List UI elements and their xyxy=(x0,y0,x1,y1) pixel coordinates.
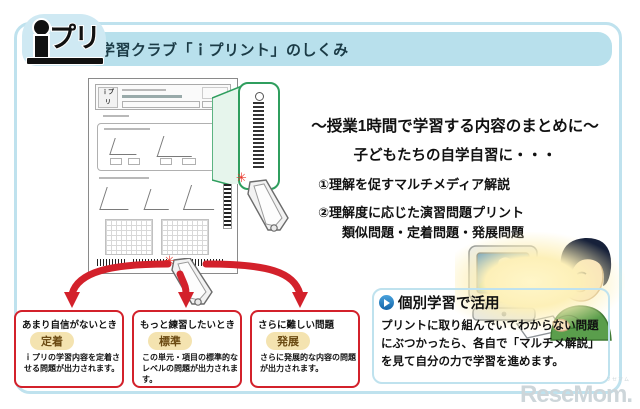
info-panel-body: プリントに取り組んでいてわからない問題にぶつかったら、各自で「マルチメ解説」を見… xyxy=(381,317,607,371)
outcome-card-teichaku[interactable]: あまり自信がないとき 定着 ｉプリの学習内容を定着させる問題が出力されます。 xyxy=(14,310,124,388)
card-body: この単元・項目の標準的なレベルの問題が出力されます。 xyxy=(142,352,238,385)
play-circle-icon xyxy=(379,295,394,310)
ipuri-logo: プリ xyxy=(22,14,106,68)
worksheet-figure-a xyxy=(99,187,135,210)
barcode-scanner-pen-upper xyxy=(244,178,302,245)
info-panel-heading: 個別学習で活用 xyxy=(398,292,500,313)
zoom-marker-icon xyxy=(255,92,264,101)
infographic-root: 学習クラブ「ｉプリント」のしくみ プリ ｉプリ xyxy=(0,0,640,409)
branch-arrows xyxy=(20,258,340,314)
headline-point-2: ②理解度に応じた演習問題プリント xyxy=(318,202,524,221)
outcome-card-hyojun[interactable]: もっと練習したいとき 標準 この単元・項目の標準的なレベルの問題が出力されます。 xyxy=(132,310,242,388)
headline-point-1: ①理解を促すマルチメディア解説 xyxy=(318,174,510,193)
outcome-card-hatten[interactable]: さらに難しい問題 発展 さらに発展的な内容の問題が出力されます。 xyxy=(250,310,360,388)
logo-kana-text: プリ xyxy=(49,22,99,54)
card-title: さらに難しい問題 xyxy=(258,317,334,331)
watermark-main: ReseMom. xyxy=(520,383,632,407)
card-body: ｉプリの学習内容を定着させる問題が出力されます。 xyxy=(24,352,120,374)
worksheet-title-line xyxy=(122,89,166,91)
card-body: さらに発展的な内容の問題が出力されます。 xyxy=(260,352,356,374)
worksheet-logo-icon: ｉプリ xyxy=(98,87,118,108)
worksheet-subtitle-line xyxy=(122,95,182,98)
headline-sub: 子どもたちの自学自習に・・・ xyxy=(300,144,610,165)
worksheet-grid-b xyxy=(161,219,209,255)
card-title: あまり自信がないとき xyxy=(22,317,117,331)
card-level-badge: 定着 xyxy=(30,332,74,350)
card-level-badge: 標準 xyxy=(148,332,192,350)
card-level-badge: 発展 xyxy=(266,332,310,350)
worksheet-header-band: ｉプリ xyxy=(95,84,231,110)
worksheet-figure-b xyxy=(144,189,176,210)
worksheet-field-box xyxy=(122,101,200,108)
scan-spark-upper-icon: ✳ xyxy=(236,170,247,186)
card-title: もっと練習したいとき xyxy=(140,317,235,331)
zoom-barcode-lines xyxy=(253,102,264,168)
worksheet-section-label-2 xyxy=(99,177,149,179)
headline-main: 〜授業1時間で学習する内容のまとめに〜 xyxy=(292,114,618,136)
worksheet-figure-c xyxy=(183,185,222,210)
worksheet-problem-1 xyxy=(97,123,223,171)
page-title: 学習クラブ「ｉプリント」のしくみ xyxy=(100,39,570,60)
worksheet-grid-a xyxy=(105,219,153,255)
worksheet-section-label xyxy=(95,113,225,121)
watermark: リセマム ReseMom. xyxy=(520,376,632,407)
logo-underline xyxy=(26,57,104,65)
